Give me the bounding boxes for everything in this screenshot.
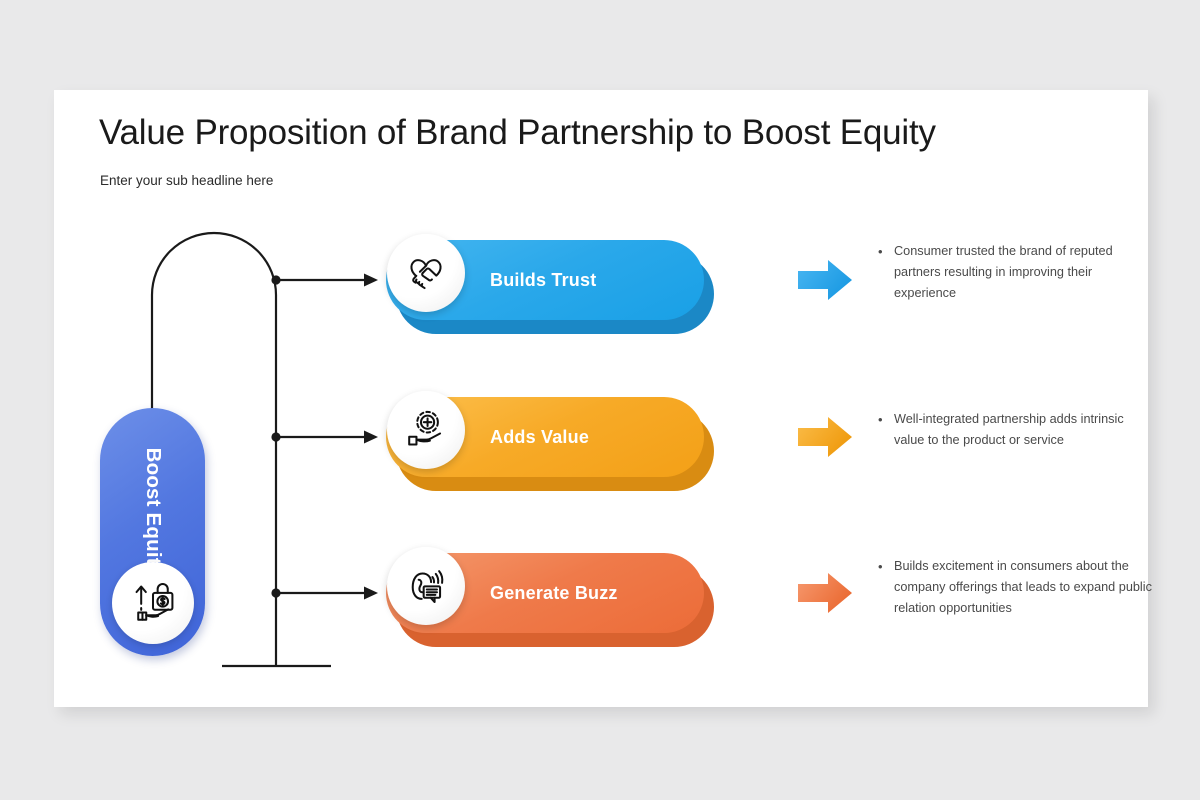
ear-speech-bubble-icon [401,561,451,611]
hand-holding-dollar-lock-icon [126,576,180,630]
bullet-marker: • [878,409,894,451]
bullet-text: Consumer trusted the brand of reputed pa… [894,241,1156,304]
slide-canvas: Value Proposition of Brand Partnership t… [0,0,1200,800]
icon-badge-adds-value [387,391,465,469]
icon-badge-generate-buzz [387,547,465,625]
bullet-marker: • [878,241,894,304]
pill-label-builds-trust: Builds Trust [490,270,596,291]
bullet-text: Well-integrated partnership adds intrins… [894,409,1156,451]
arrow-builds-trust [796,256,854,309]
hand-plus-circle-icon [401,405,451,455]
bullet-text: Builds excitement in consumers about the… [894,556,1166,619]
icon-badge-builds-trust [387,234,465,312]
hub-pill-boost-equity[interactable]: Boost Equity [100,408,205,656]
bullet-marker: • [878,556,894,619]
pill-label-generate-buzz: Generate Buzz [490,583,618,604]
arrow-right-icon [796,413,854,461]
list-item: • Well-integrated partnership adds intri… [878,409,1168,451]
bullets-adds-value: • Well-integrated partnership adds intri… [878,409,1168,451]
arrow-right-icon [796,256,854,304]
handshake-heart-icon [401,248,451,298]
arrow-generate-buzz [796,569,854,622]
pill-label-adds-value: Adds Value [490,427,589,448]
hub-pill-label: Boost Equity [141,448,165,577]
list-item: • Consumer trusted the brand of reputed … [878,241,1168,304]
hub-icon-badge [112,562,194,644]
bullets-generate-buzz: • Builds excitement in consumers about t… [878,556,1173,619]
infographic-diagram: Boost Equity [54,90,1148,707]
slide-card: Value Proposition of Brand Partnership t… [54,90,1148,707]
arrow-right-icon [796,569,854,617]
arrow-adds-value [796,413,854,466]
bullets-builds-trust: • Consumer trusted the brand of reputed … [878,241,1168,304]
list-item: • Builds excitement in consumers about t… [878,556,1173,619]
